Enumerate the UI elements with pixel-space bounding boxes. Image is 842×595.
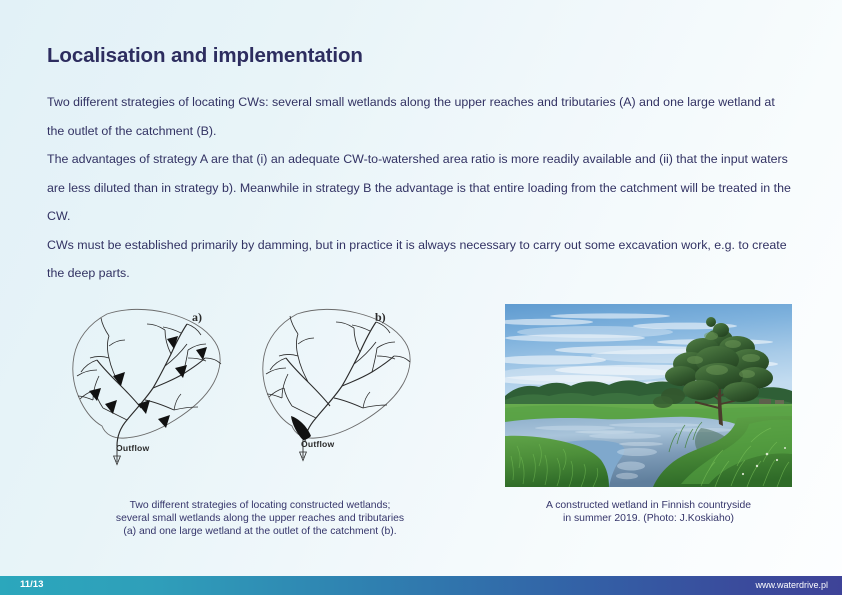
footer-bar: 11/13 www.waterdrive.pl [0, 576, 842, 595]
photo-caption-line-1: A constructed wetland in Finnish country… [505, 499, 792, 512]
page-title: Localisation and implementation [47, 44, 363, 68]
figure-row: a) Outflow [0, 296, 842, 546]
panel-label-b: b) [375, 310, 386, 325]
wetland-markers-a [89, 336, 207, 428]
website-link[interactable]: www.waterdrive.pl [755, 580, 828, 590]
diagram-caption-line-1: Two different strategies of locating con… [55, 499, 465, 512]
photo-block: A constructed wetland in Finnish country… [505, 304, 792, 525]
body-paragraph-2: The advantages of strategy A are that (i… [47, 145, 795, 231]
catchment-diagram-b: b) Outflow [245, 296, 435, 476]
catchment-svg-b [245, 296, 435, 476]
photo-caption-line-2: in summer 2019. (Photo: J.Koskiaho) [505, 512, 792, 525]
body-paragraph-1: Two different strategies of locating CWs… [47, 88, 795, 145]
body-paragraph-3: CWs must be established primarily by dam… [47, 231, 795, 288]
wetland-photo-graphic [505, 304, 792, 487]
panel-label-a: a) [192, 310, 202, 325]
slide-number: 11/13 [20, 579, 43, 590]
photo-caption: A constructed wetland in Finnish country… [505, 499, 792, 525]
catchment-diagram-a: a) Outflow [55, 296, 245, 476]
wetland-photo [505, 304, 792, 487]
outflow-label-a: Outflow [116, 443, 149, 453]
catchment-svg-a [55, 296, 245, 476]
diagram-caption: Two different strategies of locating con… [55, 499, 465, 539]
outflow-label-b: Outflow [301, 439, 334, 449]
body-text-block: Two different strategies of locating CWs… [47, 88, 795, 288]
wetland-marker-b [291, 416, 311, 440]
diagram-caption-line-2: several small wetlands along the upper r… [55, 512, 465, 525]
diagram-caption-line-3: (a) and one large wetland at the outlet … [55, 525, 465, 538]
catchment-diagram-block: a) Outflow [55, 296, 455, 546]
slide-canvas: Localisation and implementation Two diff… [0, 0, 842, 595]
